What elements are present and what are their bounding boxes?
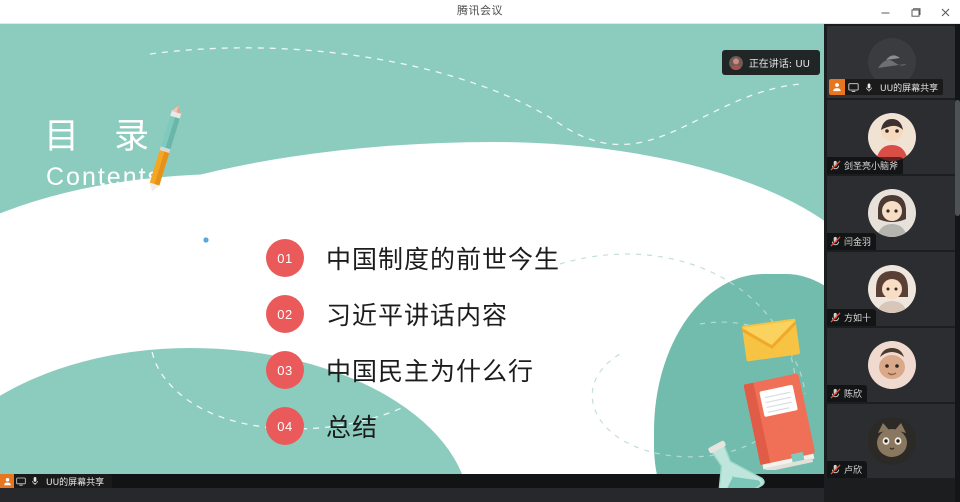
maximize-button[interactable]: [900, 0, 930, 24]
participant-name-bar: 方如十: [827, 309, 876, 326]
window-controls: [870, 0, 960, 24]
mic-muted-icon: [830, 312, 841, 323]
participant-tile[interactable]: 陈欣: [827, 328, 957, 402]
contents-item[interactable]: 01 中国制度的前世今生: [266, 230, 560, 286]
microphone-icon[interactable]: [28, 474, 42, 488]
person-icon: [3, 477, 12, 486]
maximize-icon: [910, 7, 921, 18]
speaking-tooltip: 正在讲话: UU: [722, 50, 820, 75]
close-button[interactable]: [930, 0, 960, 24]
sidebar-scrollbar-track[interactable]: [955, 24, 960, 502]
screen-share-icon[interactable]: [845, 79, 861, 95]
participant-tile[interactable]: 方如十: [827, 252, 957, 326]
participant-tile[interactable]: 闫金羽: [827, 176, 957, 250]
participant-tile[interactable]: UU的屏幕共享: [827, 26, 957, 98]
participant-controls[interactable]: UU的屏幕共享: [829, 79, 943, 95]
contents-item[interactable]: 02 习近平讲话内容: [266, 286, 560, 342]
contents-item-number: 01: [266, 239, 304, 277]
participant-name: UU的屏幕共享: [877, 81, 943, 94]
title-bar: 腾讯会议: [0, 0, 960, 24]
avatar: [868, 341, 916, 389]
participant-name: 剑圣亮小脑斧: [844, 159, 898, 172]
avatar: [868, 113, 916, 161]
mic-icon: [865, 82, 873, 93]
contents-item-number: 03: [266, 351, 304, 389]
participant-name: 方如十: [844, 311, 871, 324]
flask-icon: [692, 438, 778, 488]
minimize-button[interactable]: [870, 0, 900, 24]
envelope-icon: [742, 318, 800, 362]
monitor-icon: [848, 83, 859, 92]
close-icon: [940, 7, 951, 18]
shared-screen-stage[interactable]: 目 录 Contents: [0, 24, 824, 488]
mic-muted-icon: [830, 464, 841, 475]
contents-item-label: 习近平讲话内容: [326, 296, 508, 332]
participants-sidebar[interactable]: UU的屏幕共享: [824, 24, 960, 502]
contents-item-label: 中国民主为什么行: [326, 352, 534, 388]
contents-item-number: 02: [266, 295, 304, 333]
contents-item-label: 中国制度的前世今生: [326, 240, 560, 276]
mic-muted-icon: [830, 388, 841, 399]
tooltip-avatar: [729, 56, 743, 70]
avatar-image: [729, 56, 743, 70]
contents-item[interactable]: 03 中国民主为什么行: [266, 342, 560, 398]
avatar: [868, 417, 916, 465]
participant-name: 闫金羽: [844, 235, 871, 248]
participant-name: 卢欣: [844, 463, 862, 476]
avatar-image: [868, 113, 916, 161]
participant-name: 陈欣: [844, 387, 862, 400]
contents-item-number: 04: [266, 407, 304, 445]
contents-item[interactable]: 04 总结: [266, 398, 560, 454]
meeting-body: 目 录 Contents: [0, 24, 960, 502]
presenter-icon: [829, 79, 845, 95]
avatar: [868, 265, 916, 313]
participant-name-bar: 闫金羽: [827, 233, 876, 250]
participant-tile[interactable]: 剑圣亮小脑斧: [827, 100, 957, 174]
share-indicator[interactable]: UU的屏幕共享: [0, 474, 112, 488]
monitor-icon: [16, 477, 26, 486]
person-icon: [832, 82, 842, 92]
avatar-image: [868, 265, 916, 313]
mic-muted-icon: [830, 236, 841, 247]
avatar-image: [868, 417, 916, 465]
microphone-icon[interactable]: [861, 79, 877, 95]
window-title: 腾讯会议: [0, 0, 960, 23]
sidebar-scrollbar-thumb[interactable]: [955, 100, 960, 216]
screen-share-icon[interactable]: [14, 474, 28, 488]
minimize-icon: [880, 7, 891, 18]
avatar-image: [868, 189, 916, 237]
participant-name-bar: 剑圣亮小脑斧: [827, 157, 903, 174]
participant-name-bar: 卢欣: [827, 461, 867, 478]
contents-item-label: 总结: [326, 408, 378, 444]
pencil-icon: [136, 102, 196, 198]
tooltip-text: 正在讲话: UU: [749, 55, 810, 70]
avatar-image: [868, 341, 916, 389]
participant-tile[interactable]: 卢欣: [827, 404, 957, 478]
mic-muted-icon: [830, 160, 841, 171]
avatar: [868, 189, 916, 237]
share-status-label: UU的屏幕共享: [42, 475, 112, 488]
participant-name-bar: 陈欣: [827, 385, 867, 402]
contents-list: 01 中国制度的前世今生 02 习近平讲话内容 03 中国民主为什么行 04 总…: [266, 230, 560, 454]
presenter-icon: [0, 474, 14, 488]
tencent-meeting-window: 腾讯会议: [0, 0, 960, 502]
mic-icon: [31, 476, 39, 486]
